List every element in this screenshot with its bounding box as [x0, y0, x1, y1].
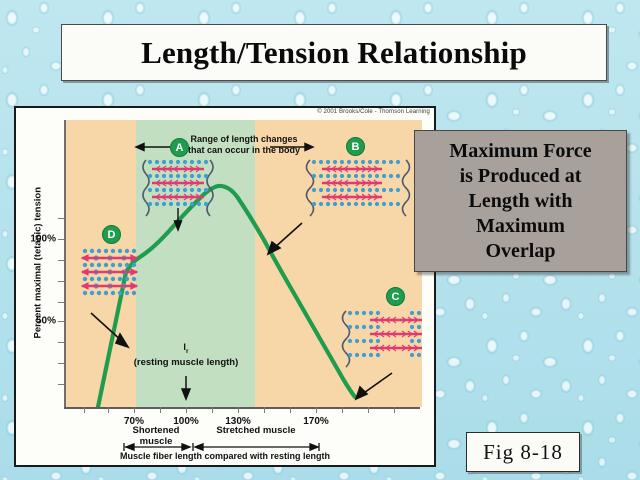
x-tick — [186, 407, 187, 413]
x-tick-label-170: 170% — [303, 416, 329, 427]
slide-title-box: Length/Tension Relationship — [61, 24, 607, 81]
x-tick — [160, 407, 161, 413]
bracket-label-stretched: Stretched muscle — [216, 426, 296, 437]
x-tick — [290, 407, 291, 413]
callout-line: Overlap — [449, 239, 591, 264]
x-tick — [394, 407, 395, 413]
callout-line: Length with — [449, 189, 591, 214]
x-tick — [84, 407, 85, 413]
x-tick — [108, 407, 109, 413]
figure-number-label: Fig 8-18 — [483, 440, 563, 465]
pointer-arrow-c-icon — [356, 373, 392, 399]
resting-length-subscript: r — [186, 348, 189, 355]
x-tick — [316, 407, 317, 413]
x-tick — [368, 407, 369, 413]
bracket-label-shortened: Shortened muscle — [116, 426, 196, 447]
page-title: Length/Tension Relationship — [141, 35, 527, 71]
x-axis-line — [64, 407, 420, 409]
callout-line: Maximum — [449, 214, 591, 239]
sarcomere-badge-b: B — [346, 137, 365, 156]
x-tick — [238, 407, 239, 413]
callout-line: Maximum Force — [449, 139, 591, 164]
x-tick — [134, 407, 135, 413]
y-tick-label-100: 100% — [16, 234, 56, 245]
resting-length-caption: (resting muscle length) — [134, 357, 239, 368]
x-tick — [342, 407, 343, 413]
x-axis-title: Muscle fiber length compared with restin… — [16, 451, 434, 461]
plot-area: Range of length changes that can occur i… — [64, 120, 422, 407]
callout-line: is Produced at — [449, 164, 591, 189]
callout-box: Maximum Forceis Produced atLength withMa… — [414, 130, 627, 272]
pointer-arrow-b-icon — [268, 223, 302, 254]
x-tick — [212, 407, 213, 413]
sarcomere-diagram-c — [343, 311, 423, 367]
sarcomere-badge-a: A — [170, 138, 189, 157]
pointer-arrow-d-icon — [91, 313, 128, 347]
sarcomere-diagram-b — [307, 160, 410, 216]
x-tick — [264, 407, 265, 413]
sarcomere-diagram-d — [82, 249, 137, 295]
copyright-notice: © 2001 Brooks/Cole - Thomson Learning — [317, 109, 430, 115]
resting-length-annotation: lr (resting muscle length) — [126, 342, 246, 368]
figure-number-box: Fig 8-18 — [466, 432, 580, 472]
callout-text: Maximum Forceis Produced atLength withMa… — [449, 139, 591, 264]
y-tick-label-50: 50% — [16, 316, 56, 327]
sarcomere-badge-c: C — [386, 287, 405, 306]
figure-panel: © 2001 Brooks/Cole - Thomson Learning Pe… — [14, 106, 436, 467]
sarcomere-badge-d: D — [102, 225, 121, 244]
range-of-length-annotation: Range of length changes that can occur i… — [184, 134, 304, 155]
